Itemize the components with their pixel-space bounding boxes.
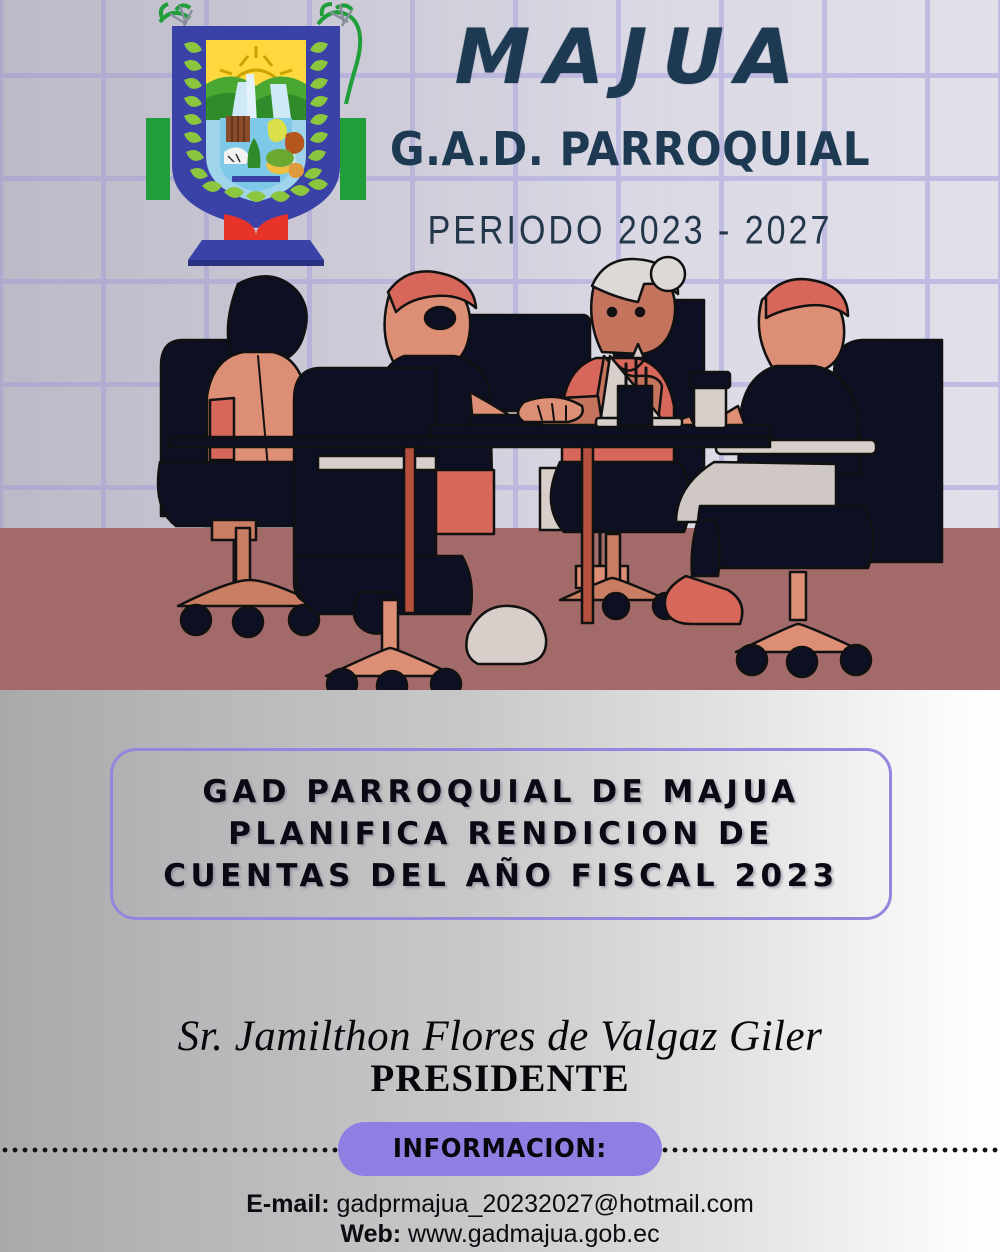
president-role: PRESIDENTE — [0, 1056, 1000, 1101]
dotted-rule-left — [0, 1147, 340, 1153]
announcement-line-3: CUENTAS DEL AÑO FISCAL 2023 — [163, 855, 839, 897]
email-value[interactable]: gadprmajua_20232027@hotmail.com — [337, 1190, 754, 1218]
wordmark-majua: MAJUA — [382, 14, 882, 100]
announcement-line-2: PLANIFICA RENDICION DE — [163, 813, 839, 855]
hands — [518, 397, 583, 422]
coat-of-arms-crest — [140, 0, 372, 268]
poster: MAJUA G.A.D. PARROQUIAL PERIODO 2023 - 2… — [0, 0, 1000, 1252]
contact-block: E-mail: gadprmajua_20232027@hotmail.com … — [0, 1189, 1000, 1249]
poster-header: MAJUA G.A.D. PARROQUIAL PERIODO 2023 - 2… — [0, 0, 1000, 262]
web-label: Web: — [340, 1220, 401, 1248]
announcement-card: GAD PARROQUIAL DE MAJUA PLANIFICA RENDIC… — [110, 748, 892, 920]
period-label: PERIODO 2023 - 2027 — [380, 208, 880, 254]
information-badge-label: INFORMACION: — [393, 1134, 607, 1164]
web-value[interactable]: www.gadmajua.gob.ec — [408, 1220, 660, 1248]
person-man-black-turtleneck — [665, 279, 942, 677]
wordmark-gad-parroquial: G.A.D. PARROQUIAL — [375, 124, 885, 174]
contact-email-row: E-mail: gadprmajua_20232027@hotmail.com — [0, 1189, 1000, 1219]
announcement-text: GAD PARROQUIAL DE MAJUA PLANIFICA RENDIC… — [163, 771, 839, 897]
dotted-rule-right — [660, 1147, 1000, 1153]
email-label: E-mail: — [246, 1190, 329, 1218]
information-badge: INFORMACION: — [338, 1122, 662, 1176]
president-name: Sr. Jamilthon Flores de Valgaz Giler — [0, 1012, 1000, 1061]
announcement-line-1: GAD PARROQUIAL DE MAJUA — [163, 771, 839, 813]
contact-web-row: Web: www.gadmajua.gob.ec — [0, 1219, 1000, 1249]
